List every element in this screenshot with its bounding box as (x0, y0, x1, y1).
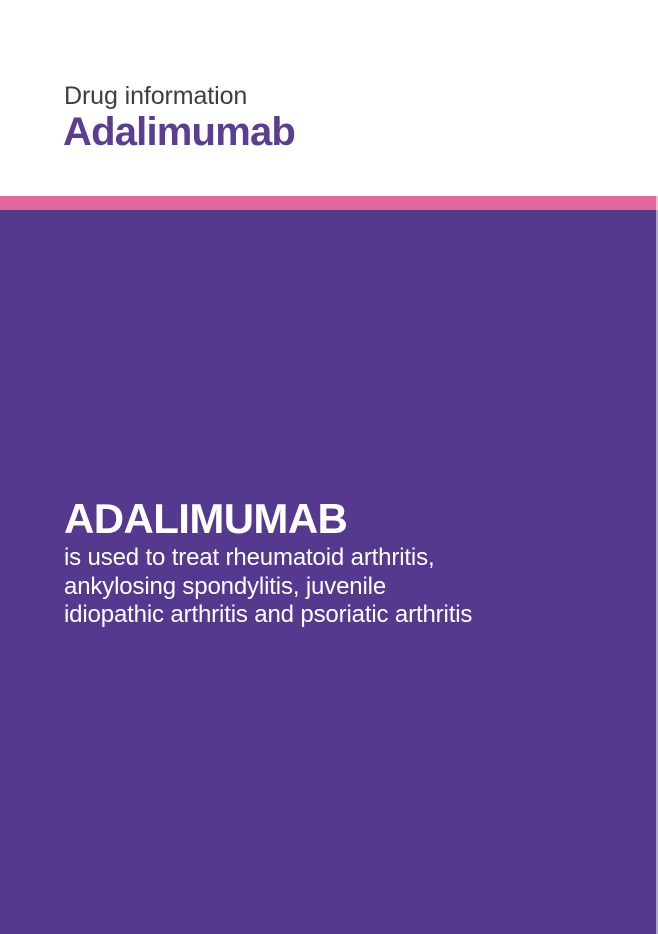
header-eyebrow: Drug information (64, 81, 247, 111)
cover-description: is used to treat rheumatoid arthritis, a… (64, 543, 484, 630)
pink-divider-rule (0, 196, 658, 210)
cover-panel: ADALIMUMAB is used to treat rheumatoid a… (0, 210, 658, 934)
cover-drug-name: ADALIMUMAB (64, 495, 484, 543)
cover-headline-block: ADALIMUMAB is used to treat rheumatoid a… (64, 495, 484, 630)
header-band: Drug information Adalimumab (0, 0, 658, 196)
leaflet-cover-page: Drug information Adalimumab ADALIMUMAB i… (0, 0, 658, 934)
page-title: Adalimumab (63, 108, 295, 156)
